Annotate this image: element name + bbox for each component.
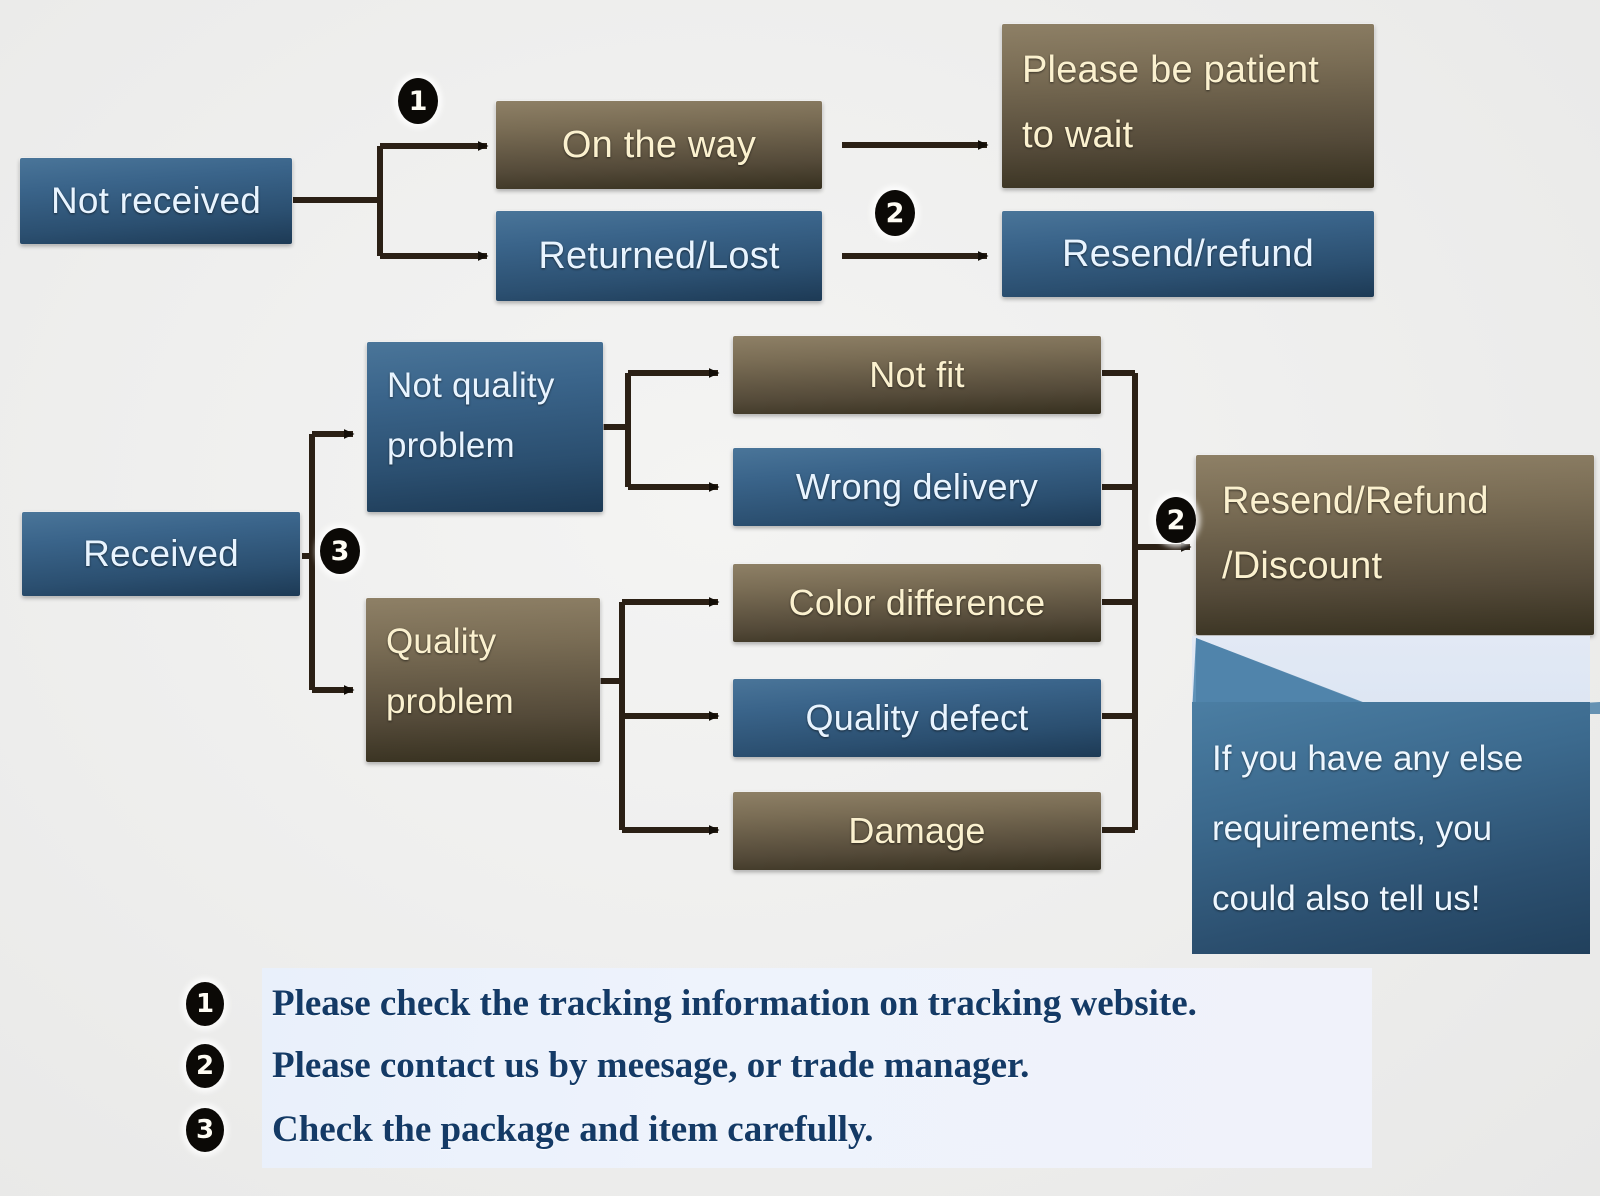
node-label-line2: problem bbox=[387, 416, 583, 476]
node-quality-problem[interactable]: Quality problem bbox=[366, 598, 600, 762]
node-resend-refund[interactable]: Resend/refund bbox=[1002, 211, 1374, 297]
node-not-quality-problem[interactable]: Not quality problem bbox=[367, 342, 603, 512]
step-marker-2-bottom: 2 bbox=[1156, 497, 1196, 543]
node-label-line1: Quality bbox=[386, 612, 580, 672]
node-wrong-delivery[interactable]: Wrong delivery bbox=[733, 448, 1101, 526]
legend-number-value: 2 bbox=[196, 1051, 214, 1081]
step-marker-2-top: 2 bbox=[875, 190, 915, 236]
node-quality-defect[interactable]: Quality defect bbox=[733, 679, 1101, 757]
node-label: Received bbox=[40, 533, 282, 575]
node-label: Not fit bbox=[751, 354, 1083, 396]
node-returned-lost[interactable]: Returned/Lost bbox=[496, 211, 822, 301]
node-color-difference[interactable]: Color difference bbox=[733, 564, 1101, 642]
node-label-line2: /Discount bbox=[1222, 534, 1574, 599]
node-not-fit[interactable]: Not fit bbox=[733, 336, 1101, 414]
step-marker-3: 3 bbox=[320, 528, 360, 574]
node-label-line2: problem bbox=[386, 672, 580, 732]
node-label: Damage bbox=[751, 810, 1083, 852]
node-label: Not received bbox=[38, 180, 274, 222]
node-please-be-patient[interactable]: Please be patient to wait bbox=[1002, 24, 1374, 188]
legend-number-value: 1 bbox=[196, 989, 214, 1019]
marker-number: 2 bbox=[1167, 505, 1186, 536]
node-received[interactable]: Received bbox=[22, 512, 300, 596]
legend-text-1: Please check the tracking information on… bbox=[272, 982, 1197, 1025]
node-on-the-way[interactable]: On the way bbox=[496, 101, 822, 189]
callout-line-3: could also tell us! bbox=[1212, 864, 1572, 934]
node-label: Returned/Lost bbox=[514, 235, 804, 278]
legend-text-3: Check the package and item carefully. bbox=[272, 1108, 874, 1151]
flowchart-canvas: Not received 1 On the way Returned/Lost … bbox=[0, 0, 1600, 1196]
node-not-received[interactable]: Not received bbox=[20, 158, 292, 244]
node-label: Quality defect bbox=[751, 697, 1083, 739]
callout-line-1: If you have any else bbox=[1212, 724, 1572, 794]
node-damage[interactable]: Damage bbox=[733, 792, 1101, 870]
node-label: Color difference bbox=[751, 582, 1083, 624]
marker-number: 1 bbox=[409, 86, 428, 117]
node-label-line2: to wait bbox=[1022, 103, 1354, 168]
legend-number-value: 3 bbox=[196, 1115, 214, 1145]
legend-text-2: Please contact us by meesage, or trade m… bbox=[272, 1044, 1029, 1087]
callout-box: If you have any else requirements, you c… bbox=[1192, 702, 1590, 954]
legend-number-3: 3 bbox=[186, 1108, 224, 1152]
step-marker-1: 1 bbox=[398, 78, 438, 124]
node-label-line1: Please be patient bbox=[1022, 38, 1354, 103]
node-label: Wrong delivery bbox=[751, 466, 1083, 508]
node-label-line1: Not quality bbox=[387, 356, 583, 416]
callout-line-2: requirements, you bbox=[1212, 794, 1572, 864]
node-label-line1: Resend/Refund bbox=[1222, 469, 1574, 534]
marker-number: 3 bbox=[331, 536, 350, 567]
node-resend-refund-discount[interactable]: Resend/Refund /Discount bbox=[1196, 455, 1594, 635]
node-label: On the way bbox=[514, 124, 804, 167]
marker-number: 2 bbox=[886, 198, 905, 229]
node-label: Resend/refund bbox=[1020, 233, 1356, 276]
legend-number-2: 2 bbox=[186, 1044, 224, 1088]
legend-number-1: 1 bbox=[186, 982, 224, 1026]
